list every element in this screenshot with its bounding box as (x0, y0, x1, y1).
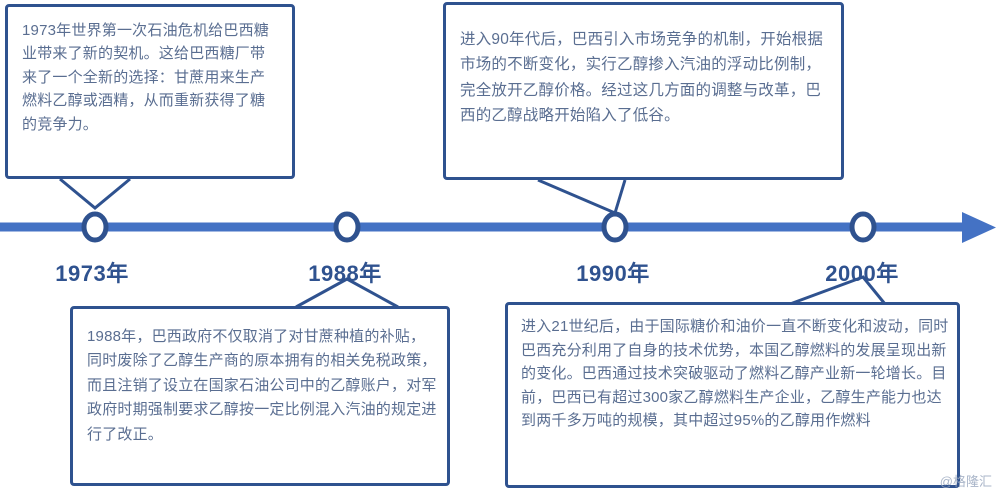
timeline-node-1988[interactable] (336, 214, 358, 240)
callout-text-2000: 进入21世纪后，由于国际糖价和油价一直不断变化和波动，同时巴西充分利用了自身的技… (521, 315, 953, 433)
callout-text-1990: 进入90年代后，巴西引入市场竞争的机制，开始根据市场的不断变化，实行乙醇掺入汽油… (460, 27, 832, 128)
timeline-node-2000[interactable] (852, 214, 874, 240)
timeline-node-1990[interactable] (604, 214, 626, 240)
callout-tail-1973 (60, 179, 130, 208)
timeline-arrow-head (962, 212, 996, 243)
year-label-2000: 2000年 (825, 256, 898, 288)
year-label-1973: 1973年 (55, 256, 128, 288)
callout-box-2000: 进入21世纪后，由于国际糖价和油价一直不断变化和波动，同时巴西充分利用了自身的技… (505, 302, 960, 488)
callout-box-1988: 1988年，巴西政府不仅取消了对甘蔗种植的补贴，同时废除了乙醇生产商的原本拥有的… (70, 306, 450, 486)
callout-text-1988: 1988年，巴西政府不仅取消了对甘蔗种植的补贴，同时废除了乙醇生产商的原本拥有的… (87, 325, 437, 447)
callout-box-1990: 进入90年代后，巴西引入市场竞争的机制，开始根据市场的不断变化，实行乙醇掺入汽油… (443, 2, 844, 180)
callout-tail-1990 (538, 180, 625, 213)
callout-box-1973: 1973年世界第一次石油危机给巴西糖业带来了新的契机。这给巴西糖厂带来了一个全新… (5, 4, 295, 179)
timeline-infographic: 1973年世界第一次石油危机给巴西糖业带来了新的契机。这给巴西糖厂带来了一个全新… (0, 0, 1000, 494)
watermark: @格隆汇 (940, 471, 992, 490)
callout-text-1973: 1973年世界第一次石油危机给巴西糖业带来了新的契机。这给巴西糖厂带来了一个全新… (22, 19, 280, 136)
year-label-1988: 1988年 (308, 256, 381, 288)
timeline-node-1973[interactable] (84, 214, 106, 240)
year-label-1990: 1990年 (576, 256, 649, 288)
